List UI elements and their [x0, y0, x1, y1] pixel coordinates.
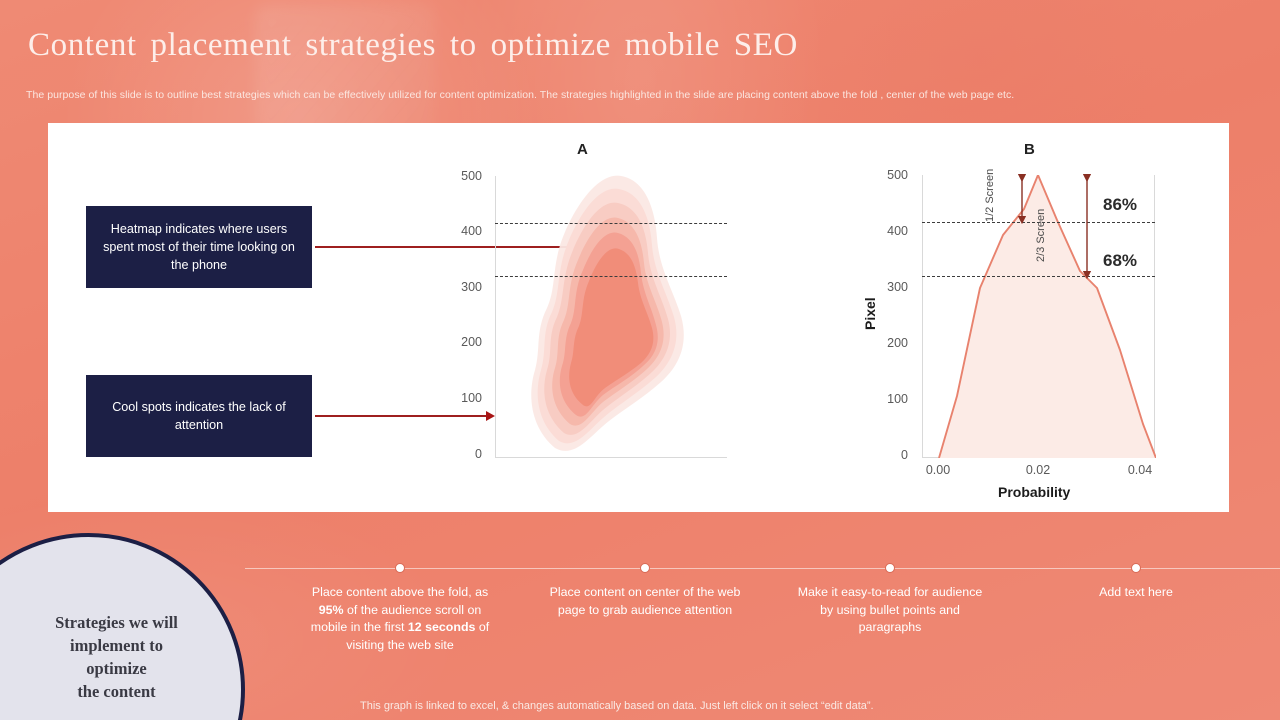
arrow-coolspots-line — [315, 415, 487, 417]
chart-b-xtick-0: 0.00 — [908, 463, 968, 477]
chart-b-ytick-0: 0 — [868, 448, 908, 462]
page-title: Content placement strategies to optimize… — [28, 27, 798, 64]
callout-heatmap[interactable]: Heatmap indicates where users spent most… — [86, 206, 312, 288]
timeline-item-1: Place content above the fold, as 95% of … — [300, 584, 500, 654]
timeline-item-2: Place content on center of the web page … — [545, 584, 745, 619]
chart-a-ytick-500: 500 — [442, 169, 482, 183]
chart-b-ytick-100: 100 — [868, 392, 908, 406]
chart-a-ytick-200: 200 — [442, 335, 482, 349]
chart-a-heatmap — [495, 160, 730, 460]
chart-b-ytick-400: 400 — [868, 224, 908, 238]
timeline-item-3: Make it easy-to-read for audience by usi… — [790, 584, 990, 637]
chart-b-pct-68: 68% — [1103, 251, 1137, 271]
callout-heatmap-label: Heatmap indicates where users spent most… — [98, 220, 300, 274]
timeline-dot-2[interactable] — [640, 563, 650, 573]
chart-b-yaxis-title: Pixel — [862, 297, 878, 330]
timeline-item-4: Add text here — [1036, 584, 1236, 602]
chart-b-xaxis-title: Probability — [998, 484, 1070, 500]
chart-b-ytick-300: 300 — [868, 280, 908, 294]
chart-b-ytick-200: 200 — [868, 336, 908, 350]
timeline-dot-1[interactable] — [395, 563, 405, 573]
chart-b-title: B — [1024, 141, 1035, 158]
chart-a-title: A — [577, 141, 588, 158]
chart-b-xtick-2: 0.04 — [1110, 463, 1170, 477]
chart-b-xtick-1: 0.02 — [1008, 463, 1068, 477]
callout-coolspots-label: Cool spots indicates the lack of attenti… — [98, 398, 300, 434]
callout-coolspots[interactable]: Cool spots indicates the lack of attenti… — [86, 375, 312, 457]
chart-b-pct-86: 86% — [1103, 195, 1137, 215]
chart-a-ytick-0: 0 — [442, 447, 482, 461]
timeline-dot-4[interactable] — [1131, 563, 1141, 573]
chart-a-refline-2 — [495, 276, 727, 277]
page-subtitle: The purpose of this slide is to outline … — [26, 89, 1014, 101]
chart-a-refline-1 — [495, 223, 727, 224]
chart-b-ytick-500: 500 — [868, 168, 908, 182]
chart-a-ytick-100: 100 — [442, 391, 482, 405]
chart-a-ytick-400: 400 — [442, 224, 482, 238]
timeline-dot-3[interactable] — [885, 563, 895, 573]
footer-note: This graph is linked to excel, & changes… — [360, 700, 874, 712]
strategies-badge-label: Strategies we willimplement tooptimizeth… — [0, 611, 178, 720]
chart-a-ytick-300: 300 — [442, 280, 482, 294]
arrow-coolspots-head — [486, 411, 495, 421]
